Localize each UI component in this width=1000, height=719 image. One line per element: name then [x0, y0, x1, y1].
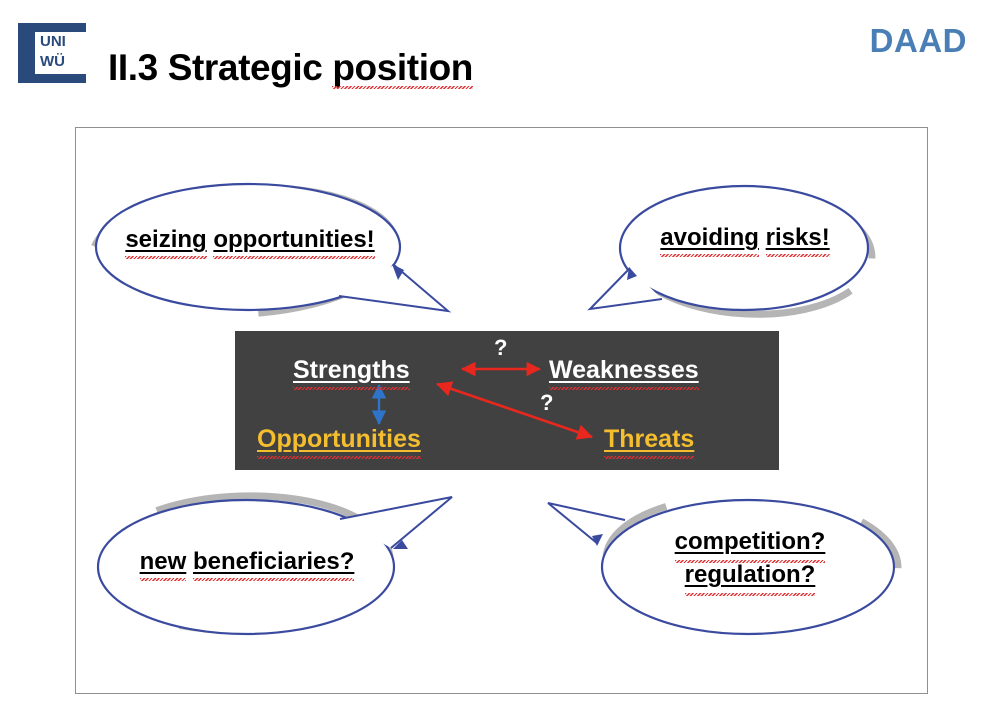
university-wuerzburg-logo: UNI WÜ [18, 23, 86, 83]
page-title: II.3 Strategic position [108, 47, 473, 89]
bubble-bottom-left-label: new beneficiaries? [118, 548, 376, 576]
bubble-tl-word2: opportunities! [213, 226, 374, 254]
swot-weaknesses-text: Weaknesses [549, 356, 699, 385]
bubble-bl-word1: new [140, 548, 187, 576]
daad-logo: DAAD [870, 22, 967, 60]
question-mark-horizontal: ? [494, 335, 507, 361]
bubble-bl-word2: beneficiaries? [193, 548, 354, 576]
bubble-top-right-label: avoiding risks! [640, 224, 850, 252]
page-title-misspelled: position [332, 47, 473, 88]
slide-header: UNI WÜ II.3 Strategic position DAAD [0, 0, 1000, 118]
bubble-tl-word1: seizing [125, 226, 206, 254]
swot-opportunities-text: Opportunities [257, 425, 421, 454]
page-title-plain: II.3 Strategic [108, 47, 332, 88]
logo-text-line1: UNI [40, 32, 86, 52]
swot-label-opportunities: Opportunities [257, 425, 421, 454]
question-mark-diagonal: ? [540, 390, 553, 416]
bubble-top-left-label: seizing opportunities! [100, 226, 400, 254]
swot-threats-text: Threats [604, 425, 694, 454]
bubble-tr-word1: avoiding [660, 224, 759, 252]
bubble-br-line1: competition? [675, 525, 826, 558]
bubble-bottom-right-label: competition?regulation? [655, 525, 845, 591]
logo-text-line2: WÜ [40, 52, 86, 72]
swot-label-weaknesses: Weaknesses [549, 356, 699, 385]
swot-label-strengths: Strengths [293, 356, 410, 385]
swot-strengths-text: Strengths [293, 356, 410, 385]
logo-text: UNI WÜ [40, 32, 86, 72]
swot-label-threats: Threats [604, 425, 694, 454]
bubble-br-line2: regulation? [685, 558, 816, 591]
bubble-tr-word2: risks! [766, 224, 830, 252]
